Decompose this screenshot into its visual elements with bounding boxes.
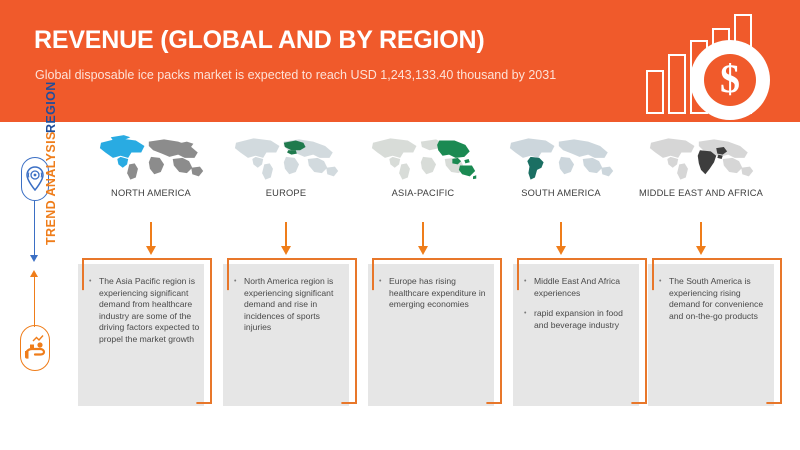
list-item: North America region is experiencing sig… xyxy=(233,276,345,334)
region-column-asia-pacific[interactable]: ASIA-PACIFIC xyxy=(352,134,494,198)
trend-card[interactable]: Europe has rising healthcare expenditure… xyxy=(368,258,502,406)
region-arrow-head xyxy=(696,246,706,255)
trend-card[interactable]: The South America is experiencing rising… xyxy=(648,258,782,406)
rail-connector-blue xyxy=(34,201,35,257)
region-column-europe[interactable]: EUROPE xyxy=(215,134,357,198)
world-map-south-america-highlight-icon xyxy=(505,134,617,184)
header-banner: REVENUE (GLOBAL AND BY REGION) Global di… xyxy=(0,0,800,122)
region-arrow-head xyxy=(418,246,428,255)
list-item: Middle East And Africa experiences xyxy=(523,276,635,299)
region-arrow-head xyxy=(281,246,291,255)
trend-bullet-list: The Asia Pacific region is experiencing … xyxy=(88,276,200,355)
rail-label-trend-analysis: TREND ANALYSIS xyxy=(44,85,58,245)
region-arrow-head xyxy=(556,246,566,255)
hand-growth-icon xyxy=(20,325,50,371)
region-column-north-america[interactable]: NORTH AMERICA xyxy=(80,134,222,198)
list-item: Europe has rising healthcare expenditure… xyxy=(378,276,490,311)
region-arrow-line xyxy=(700,222,702,248)
region-column-middle-east-africa[interactable]: MIDDLE EAST AND AFRICA xyxy=(630,134,772,198)
world-map-europe-highlight-icon xyxy=(230,134,342,184)
region-label: EUROPE xyxy=(215,188,357,198)
region-arrow-line xyxy=(422,222,424,248)
region-arrow-head xyxy=(146,246,156,255)
region-arrow-line xyxy=(150,222,152,248)
page-title: REVENUE (GLOBAL AND BY REGION) xyxy=(34,26,485,55)
trend-card[interactable]: The Asia Pacific region is experiencing … xyxy=(78,258,212,406)
bar-chart-dollar-icon: $ xyxy=(646,12,796,120)
region-label: ASIA-PACIFIC xyxy=(352,188,494,198)
trend-bullet-list: North America region is experiencing sig… xyxy=(233,276,345,343)
trend-card[interactable]: Middle East And Africa experiences rapid… xyxy=(513,258,647,406)
page-subtitle: Global disposable ice packs market is ex… xyxy=(35,66,615,85)
world-map-north-america-highlight-icon xyxy=(95,134,207,184)
list-item: The South America is experiencing rising… xyxy=(658,276,770,322)
region-column-south-america[interactable]: SOUTH AMERICA xyxy=(490,134,632,198)
region-label: SOUTH AMERICA xyxy=(490,188,632,198)
trend-bullet-list: Middle East And Africa experiences rapid… xyxy=(523,276,635,340)
trend-bullet-list: The South America is experiencing rising… xyxy=(658,276,770,331)
region-label: MIDDLE EAST AND AFRICA xyxy=(630,188,772,198)
list-item: rapid expansion in food and beverage ind… xyxy=(523,308,635,331)
hand-growth-glyph xyxy=(21,326,49,370)
list-item: The Asia Pacific region is experiencing … xyxy=(88,276,200,346)
world-map-asia-pacific-highlight-icon xyxy=(367,134,479,184)
rail-arrow-down-blue xyxy=(30,255,38,262)
dollar-sign-icon: $ xyxy=(704,54,756,106)
region-arrow-line xyxy=(560,222,562,248)
region-arrow-line xyxy=(285,222,287,248)
world-map-middle-east-africa-highlight-icon xyxy=(645,134,757,184)
rail-connector-orange xyxy=(34,277,35,327)
region-label: NORTH AMERICA xyxy=(80,188,222,198)
rail-arrow-up-orange xyxy=(30,270,38,277)
trend-bullet-list: Europe has rising healthcare expenditure… xyxy=(378,276,490,320)
trend-card[interactable]: North America region is experiencing sig… xyxy=(223,258,357,406)
